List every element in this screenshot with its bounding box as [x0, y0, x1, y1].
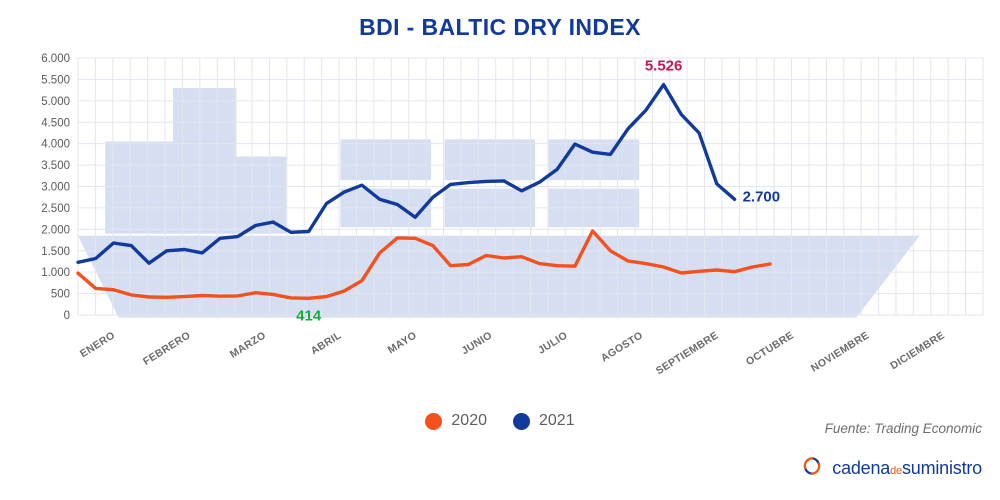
- x-axis-tick-label: NOVIEMBRE: [809, 329, 872, 374]
- y-axis-tick-label: 3.500: [41, 160, 70, 172]
- x-axis-tick-label: AGOSTO: [599, 329, 645, 364]
- brand-logo: cadenadesuministro: [801, 455, 982, 482]
- brand-name-second: suministro: [902, 458, 982, 478]
- annotation-label-min: 414: [296, 307, 322, 324]
- brand-text: cadenadesuministro: [832, 458, 982, 479]
- y-axis-tick-label: 5.500: [41, 74, 70, 86]
- x-axis-ticks: ENEROFEBREROMARZOABRILMAYOJUNIOJULIOAGOS…: [78, 329, 947, 377]
- x-axis-tick-label: SEPTIEMBRE: [654, 329, 721, 377]
- ship-superstructure-blocks: [105, 88, 639, 234]
- recycle-arrows-icon: [801, 455, 823, 482]
- x-axis-tick-label: DICIEMBRE: [888, 329, 947, 372]
- x-axis-tick-label: FEBRERO: [141, 329, 193, 367]
- ship-hull-shape: [78, 236, 920, 318]
- brand-name-first: cadena: [832, 458, 890, 478]
- y-axis-tick-label: 5.000: [41, 96, 70, 108]
- x-axis-tick-label: MARZO: [228, 329, 268, 360]
- y-axis-tick-label: 0: [64, 310, 70, 322]
- legend-label: 2020: [451, 412, 487, 430]
- y-axis-tick-label: 6.000: [41, 53, 70, 65]
- y-axis-tick-label: 500: [51, 289, 70, 301]
- x-axis-tick-label: ENERO: [78, 329, 117, 360]
- x-axis-tick-label: MAYO: [386, 329, 419, 356]
- y-axis-tick-label: 2.000: [41, 224, 70, 236]
- y-axis-tick-label: 1.500: [41, 246, 70, 258]
- annotation-label-max: 5.526: [645, 58, 683, 75]
- brand-de: de: [890, 465, 902, 477]
- chart-container: BDI - BALTIC DRY INDEX 05001.0001.5002.0…: [0, 0, 1000, 500]
- y-axis-tick-label: 2.500: [41, 203, 70, 215]
- y-axis-tick-label: 3.000: [41, 182, 70, 194]
- y-axis-tick-label: 4.000: [41, 139, 70, 151]
- chart-plot-area: 05001.0001.5002.0002.5003.0003.5004.0004…: [0, 0, 1000, 410]
- y-axis-tick-label: 4.500: [41, 117, 70, 129]
- x-axis-tick-label: JUNIO: [460, 329, 495, 357]
- x-axis-tick-label: OCTUBRE: [744, 329, 796, 368]
- y-axis-ticks: 05001.0001.5002.0002.5003.0003.5004.0004…: [41, 53, 70, 322]
- legend-label: 2021: [539, 412, 575, 430]
- legend-item-2021[interactable]: 2021: [513, 412, 575, 430]
- legend-color-dot: [425, 413, 442, 430]
- source-note: Fuente: Trading Economic: [825, 421, 982, 436]
- legend-item-2020[interactable]: 2020: [425, 412, 487, 430]
- y-axis-tick-label: 1.000: [41, 267, 70, 279]
- annotation-label-last: 2.700: [743, 188, 781, 205]
- x-axis-tick-label: ABRIL: [309, 329, 344, 357]
- legend-color-dot: [513, 413, 530, 430]
- x-axis-tick-label: JULIO: [536, 329, 570, 356]
